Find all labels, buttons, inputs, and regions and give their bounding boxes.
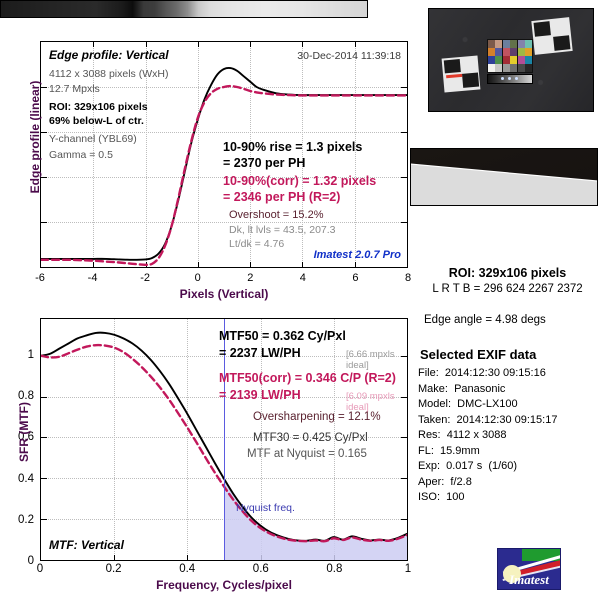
slanted-edge-target-upper-right bbox=[531, 17, 572, 55]
axis-tick-label: 0.4 bbox=[179, 563, 195, 575]
axis-tick-label: -4 bbox=[88, 272, 98, 284]
colorchecker-patch bbox=[495, 56, 502, 64]
colorchecker-patch bbox=[488, 40, 495, 48]
light-dark-ratio-text: Lt/dk = 4.76 bbox=[229, 238, 284, 250]
colorchecker-patch bbox=[525, 56, 532, 64]
target-square bbox=[553, 35, 570, 51]
mtf30-text: MTF30 = 0.425 Cy/Pxl bbox=[253, 432, 368, 444]
mtf-x-tick-labels: 00.20.40.60.81 bbox=[40, 563, 408, 577]
edge-profile-subtitle: Edge profile: Vertical bbox=[49, 48, 169, 62]
colorchecker-patch bbox=[518, 56, 525, 64]
target-square bbox=[462, 73, 479, 88]
colorchecker-patch bbox=[488, 56, 495, 64]
strip-dot bbox=[501, 77, 504, 80]
edge-profile-y-axis-title: Edge profile (linear) bbox=[28, 22, 42, 252]
mtf-x-axis-title: Frequency, Cycles/pixel bbox=[40, 578, 408, 592]
colorchecker-patch bbox=[510, 40, 517, 48]
exif-row: Model: DMC-LX100 bbox=[418, 398, 518, 410]
axis-tick-label: 0.8 bbox=[326, 563, 342, 575]
test-chart-thumbnail bbox=[428, 8, 594, 112]
colorchecker-patch bbox=[525, 64, 532, 72]
colorchecker-patch bbox=[510, 48, 517, 56]
analysis-timestamp: 30-Dec-2014 11:39:18 bbox=[297, 50, 401, 62]
exif-row: Make: Panasonic bbox=[418, 383, 505, 395]
mtf50-line1: MTF50 = 0.362 Cy/Pxl bbox=[219, 329, 346, 343]
exif-row: File: 2014:12:30 09:15:16 bbox=[418, 367, 546, 379]
target-square bbox=[444, 59, 461, 73]
roi-marker-line bbox=[446, 74, 462, 78]
colorchecker-patch bbox=[503, 40, 510, 48]
slanted-edge-target-lower-left bbox=[442, 55, 481, 92]
axis-tick-label: 4 bbox=[300, 272, 306, 284]
exif-section-title: Selected EXIF data bbox=[420, 347, 536, 362]
image-resolution-text: 4112 x 3088 pixels (WxH) bbox=[49, 68, 168, 80]
exif-row: Aper: f/2.8 bbox=[418, 476, 472, 488]
mtf-y-axis-title: SFR (MTF) bbox=[17, 322, 31, 542]
exif-row: Exp: 0.017 s (1/60) bbox=[418, 460, 517, 472]
imatest-sfr-report: P1000804.JPG bbox=[0, 0, 600, 600]
edge-angle-label: Edge angle = 4.98 degs bbox=[424, 314, 546, 326]
overshoot-text: Overshoot = 15.2% bbox=[229, 209, 323, 221]
colorchecker-chart bbox=[487, 39, 533, 73]
colorchecker-patch bbox=[488, 48, 495, 56]
axis-tick-label: 0 bbox=[37, 563, 43, 575]
colorchecker-patch bbox=[518, 64, 525, 72]
edge-profile-x-tick-labels: -6-4-202468 bbox=[40, 272, 408, 286]
colorchecker-patch bbox=[525, 40, 532, 48]
oversharpening-text: Oversharpening = 12.1% bbox=[253, 411, 381, 423]
colorchecker-patch bbox=[495, 48, 502, 56]
rise-corrected-line2: = 2346 per PH (R=2) bbox=[223, 190, 340, 204]
axis-tick-label: -6 bbox=[35, 272, 45, 284]
exif-row: FL: 15.9mm bbox=[418, 445, 480, 457]
roi-size-text: ROI: 329x106 pixels bbox=[49, 101, 148, 113]
colorchecker-patch bbox=[510, 56, 517, 64]
mtf50-corrected-ideal-note: [6.09 mpxls ideal] bbox=[346, 391, 407, 413]
axis-tick-label: 1 bbox=[405, 563, 411, 575]
grayscale-step-strip bbox=[487, 74, 533, 84]
edge-profile-panel: Edge profile: Vertical 30-Dec-2014 11:39… bbox=[40, 23, 408, 268]
axis-tick-label: 8 bbox=[405, 272, 411, 284]
mtf50-corrected-line1: MTF50(corr) = 0.346 C/P (R=2) bbox=[219, 371, 396, 385]
axis-tick-label: 0.6 bbox=[253, 563, 269, 575]
edge-profile-x-axis-title: Pixels (Vertical) bbox=[40, 287, 408, 301]
mtf-subtitle: MTF: Vertical bbox=[49, 538, 124, 552]
colorchecker-patch bbox=[503, 48, 510, 56]
rise-distance-line1: 10-90% rise = 1.3 pixels bbox=[223, 140, 362, 154]
exif-row: ISO: 100 bbox=[418, 491, 464, 503]
mtf-plot: Nyquist freq. MTF50 = 0.362 Cy/Pxl = 223… bbox=[40, 318, 408, 561]
axis-tick-label: 0.2 bbox=[106, 563, 122, 575]
target-square bbox=[534, 21, 551, 37]
edge-profile-plot: Edge profile: Vertical 30-Dec-2014 11:39… bbox=[40, 41, 408, 268]
strip-dot bbox=[508, 77, 511, 80]
colorchecker-patch bbox=[488, 64, 495, 72]
nyquist-frequency-label: Nyquist freq. bbox=[236, 502, 295, 514]
strip-dot bbox=[515, 77, 518, 80]
roi-crop-image bbox=[410, 148, 598, 206]
mtf-at-nyquist-text: MTF at Nyquist = 0.165 bbox=[247, 448, 367, 460]
axis-tick-label: 2 bbox=[247, 272, 253, 284]
axis-tick-label: -2 bbox=[140, 272, 150, 284]
roi-position-text: 69% below-L of ctr. bbox=[49, 115, 144, 127]
colorchecker-patch bbox=[518, 40, 525, 48]
colorchecker-patch bbox=[510, 64, 517, 72]
mtf50-ideal-note: [6.66 mpxls ideal] bbox=[346, 349, 407, 371]
roi-bounds-label: L R T B = 296 624 2267 2372 bbox=[415, 283, 600, 295]
dark-light-levels-text: Dk, lt lvls = 43.5, 207.3 bbox=[229, 224, 336, 236]
colorchecker-patch bbox=[518, 48, 525, 56]
rise-corrected-line1: 10-90%(corr) = 1.32 pixels bbox=[223, 174, 376, 188]
colorchecker-patch bbox=[503, 64, 510, 72]
logo-wordmark: Imatest bbox=[498, 572, 560, 588]
colorchecker-patch bbox=[503, 56, 510, 64]
rise-distance-line2: = 2370 per PH bbox=[223, 156, 305, 170]
exif-row: Res: 4112 x 3088 bbox=[418, 429, 506, 441]
imatest-version-text: Imatest 2.0.7 Pro bbox=[314, 249, 401, 261]
axis-tick-label: 0 bbox=[195, 272, 201, 284]
colorchecker-patch bbox=[495, 40, 502, 48]
mtf50-line2: = 2237 LW/PH bbox=[219, 346, 301, 360]
colorchecker-patch bbox=[495, 64, 502, 72]
channel-text: Y-channel (YBL69) bbox=[49, 133, 137, 145]
megapixels-text: 12.7 Mpxls bbox=[49, 83, 100, 95]
roi-size-label: ROI: 329x106 pixels bbox=[415, 266, 600, 280]
axis-tick-label: 6 bbox=[352, 272, 358, 284]
axis-tick-label: 0 bbox=[28, 555, 34, 567]
mtf50-corrected-line2: = 2139 LW/PH bbox=[219, 388, 301, 402]
imatest-logo: Imatest bbox=[497, 548, 561, 590]
gamma-text: Gamma = 0.5 bbox=[49, 149, 113, 161]
colorchecker-patch bbox=[525, 48, 532, 56]
exif-row: Taken: 2014:12:30 09:15:17 bbox=[418, 414, 557, 426]
grayscale-gradient-strip bbox=[0, 0, 368, 18]
